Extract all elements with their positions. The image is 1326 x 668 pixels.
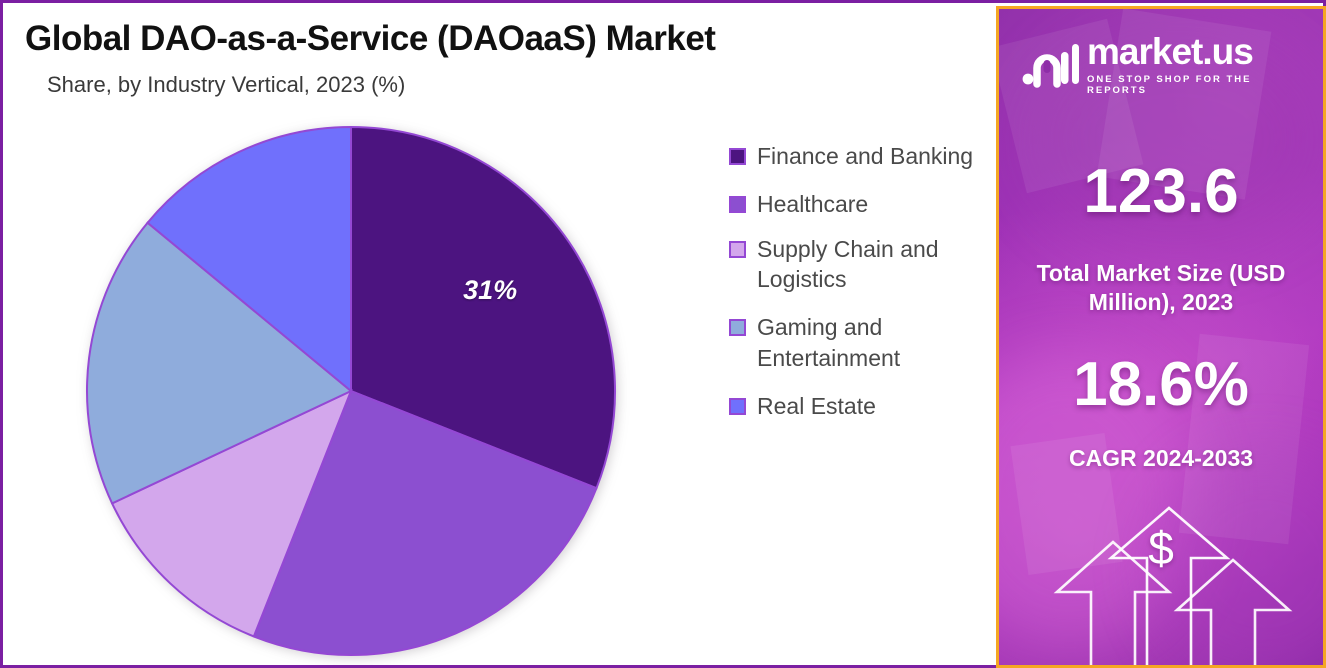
legend-swatch-icon — [729, 148, 746, 165]
legend-item-label: Finance and Banking — [757, 141, 973, 171]
legend-item[interactable]: Healthcare — [729, 189, 987, 219]
pie-slice-label-finance: 31% — [463, 275, 517, 306]
chart-legend: Finance and BankingHealthcareSupply Chai… — [729, 141, 987, 436]
infographic-frame: Global DAO-as-a-Service (DAOaaS) Market … — [0, 0, 1326, 668]
pie-chart-svg — [81, 121, 621, 661]
page-title: Global DAO-as-a-Service (DAOaaS) Market — [25, 19, 975, 58]
legend-swatch-icon — [729, 398, 746, 415]
legend-item-label: Supply Chain and Logistics — [757, 234, 987, 295]
brand-tagline: ONE STOP SHOP FOR THE REPORTS — [1087, 74, 1309, 96]
cagr-value: 18.6% — [999, 354, 1323, 416]
legend-swatch-icon — [729, 241, 746, 258]
market-size-value: 123.6 — [999, 161, 1323, 223]
legend-item-label: Real Estate — [757, 391, 876, 421]
brand-panel: market.us ONE STOP SHOP FOR THE REPORTS … — [996, 6, 1326, 668]
legend-item[interactable]: Real Estate — [729, 391, 987, 421]
legend-item[interactable]: Gaming and Entertainment — [729, 312, 987, 373]
legend-item-label: Healthcare — [757, 189, 868, 219]
brand-logo: market.us ONE STOP SHOP FOR THE REPORTS — [1021, 31, 1309, 97]
legend-item[interactable]: Supply Chain and Logistics — [729, 234, 987, 295]
legend-swatch-icon — [729, 196, 746, 213]
chart-panel: Global DAO-as-a-Service (DAOaaS) Market … — [3, 3, 993, 665]
pie-chart: 31% — [81, 121, 621, 661]
chart-subtitle: Share, by Industry Vertical, 2023 (%) — [47, 71, 467, 99]
growth-arrows-icon — [999, 500, 1323, 665]
cagr-caption: CAGR 2024-2033 — [999, 444, 1323, 473]
brand-name: market.us — [1087, 33, 1309, 70]
legend-item-label: Gaming and Entertainment — [757, 312, 987, 373]
legend-item[interactable]: Finance and Banking — [729, 141, 987, 171]
market-size-caption: Total Market Size (USD Million), 2023 — [999, 259, 1323, 318]
market-us-logo-icon — [1021, 38, 1079, 90]
legend-swatch-icon — [729, 319, 746, 336]
